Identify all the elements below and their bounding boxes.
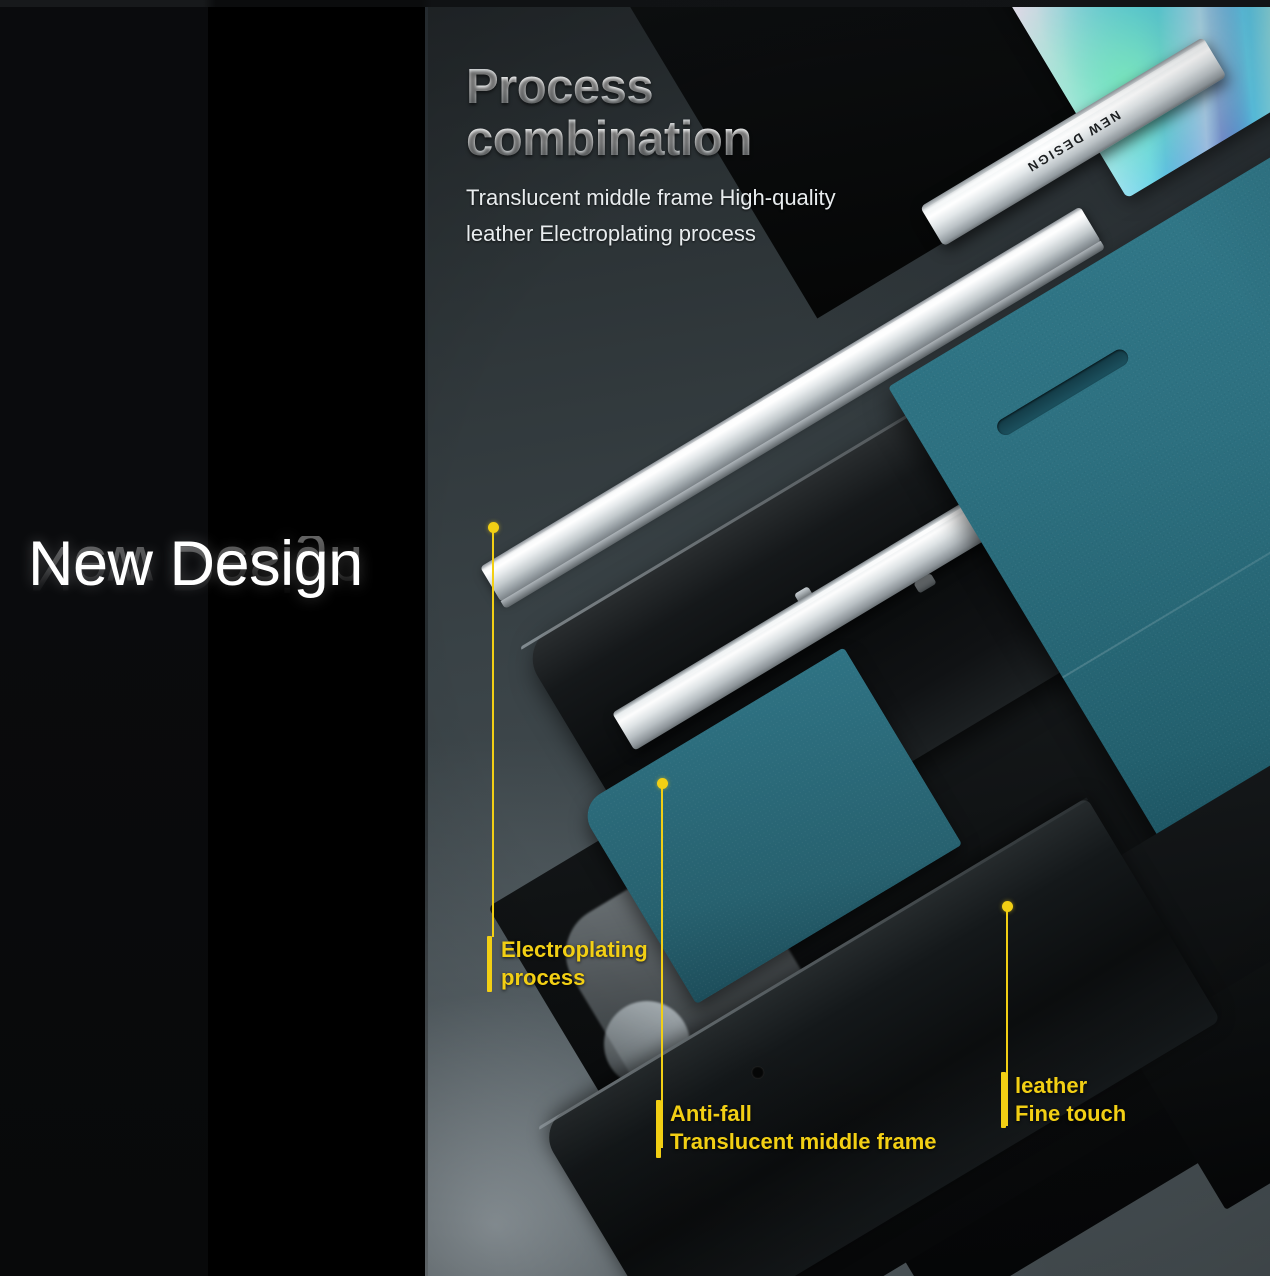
callout-text-leather: leather Fine touch xyxy=(1015,1072,1126,1128)
left-panel-shade-b xyxy=(208,7,428,1276)
callout-anti-fall: Anti-fall Translucent middle frame xyxy=(656,1100,937,1158)
leather-speaker-slot xyxy=(994,346,1131,438)
leader-line-electroplating xyxy=(492,532,494,937)
callout-dot-electroplating xyxy=(488,522,499,533)
left-black-panel xyxy=(0,7,428,1276)
heading-feature-list: Translucent middle frame High-quality le… xyxy=(466,180,896,252)
new-design-reflection: New Design xyxy=(28,536,363,599)
new-design-wordmark: New Design New Design xyxy=(28,533,428,596)
phone-bottom-camera-hole xyxy=(749,1064,767,1082)
callout-leather: leather Fine touch xyxy=(1001,1072,1126,1128)
callout-dot-anti-fall xyxy=(657,778,668,789)
callout-dot-leather xyxy=(1002,901,1013,912)
heading-line-1: Process xyxy=(466,62,896,114)
callout-text-electroplating: Electroplating process xyxy=(501,936,648,992)
leather-fold-crease xyxy=(1062,306,1270,679)
heading-block: Process combination Translucent middle f… xyxy=(466,62,896,252)
callout-bar-anti-fall xyxy=(656,1100,661,1158)
product-marketing-image: New Design New Design NEW DESIGN xyxy=(0,0,1270,1276)
leader-line-anti-fall xyxy=(661,788,663,1148)
callout-text-anti-fall: Anti-fall Translucent middle frame xyxy=(670,1100,937,1156)
callout-electroplating: Electroplating process xyxy=(487,936,648,992)
top-edge-band xyxy=(0,0,1270,7)
heading-line-2: combination xyxy=(466,114,896,166)
callout-bar-electroplating xyxy=(487,936,492,992)
callout-bar-leather xyxy=(1001,1072,1006,1128)
left-panel-shade-a xyxy=(0,7,208,1276)
